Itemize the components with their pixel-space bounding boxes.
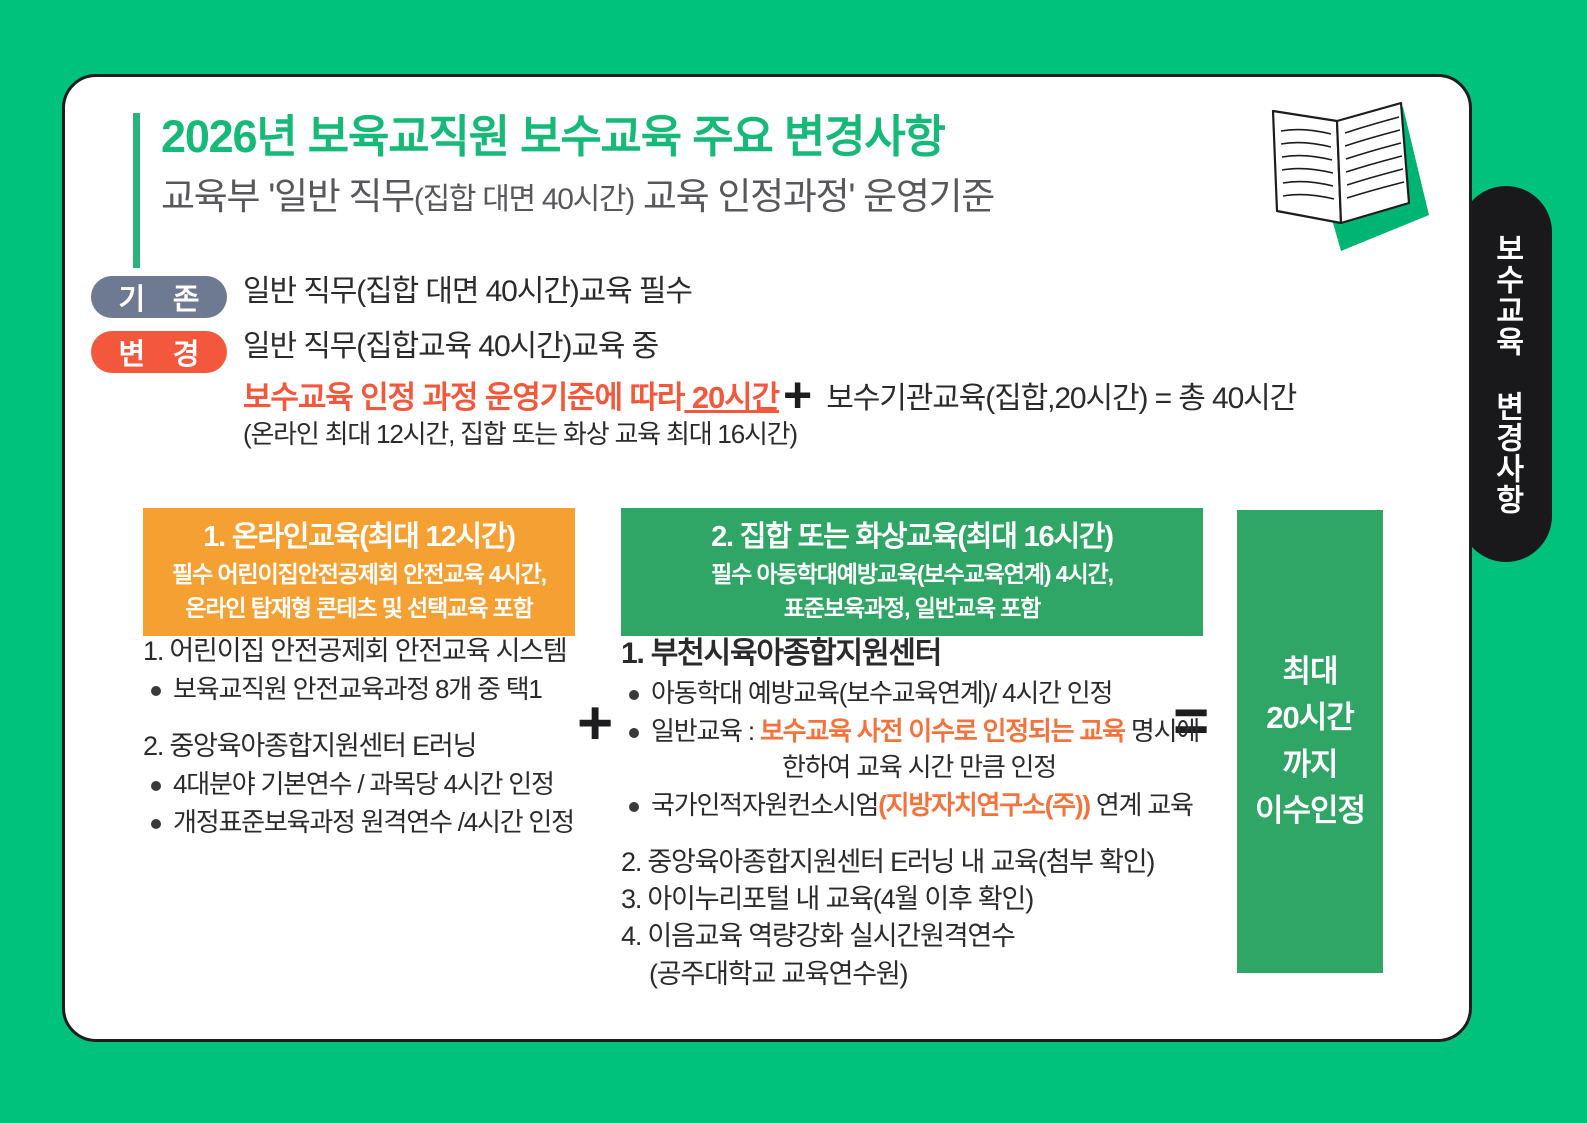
subtitle-post: 교육 인정과정' 운영기준 — [634, 176, 994, 217]
bullet-dot-icon — [151, 781, 161, 791]
section-online-title: 1. 온라인교육(최대 12시간) — [151, 518, 567, 556]
offline-group-2-head: 2. 중앙육아종합지원센터 E러닝 내 교육(첨부 확인) — [621, 844, 1211, 881]
list-item: 개정표준보육과정 원격연수 /4시간 인정 — [143, 805, 593, 841]
result-text: 최대 20시간 까지 이수인정 — [1255, 649, 1365, 835]
offline-group-1: 1. 부천시육아종합지원센터 아동학대 예방교육(보수교육연계)/ 4시간 인정… — [621, 633, 1211, 824]
header-accent-bar — [133, 113, 140, 268]
result-box: 최대 20시간 까지 이수인정 — [1237, 510, 1383, 973]
offline-group-4-sub: (공주대학교 교육연수원) — [621, 956, 1211, 993]
badge-changed: 변 경 — [91, 331, 227, 373]
offline-list: 1. 부천시육아종합지원센터 아동학대 예방교육(보수교육연계)/ 4시간 인정… — [621, 633, 1211, 993]
offline-group-1-head: 1. 부천시육아종합지원센터 — [621, 633, 1211, 674]
open-book-icon — [1253, 87, 1433, 257]
offline-item-2-pre: 일반교육 : — [651, 716, 760, 746]
row-existing-body: 일반 직무(집합 대면 40시간)교육 필수 — [243, 273, 1451, 311]
subtitle-paren: (집합 대면 40시간) — [414, 183, 634, 216]
main-card: 2026년 보육교직원 보수교육 주요 변경사항 교육부 '일반 직무(집합 대… — [62, 74, 1472, 1042]
offline-item-3-highlight: (지방자치연구소(주)) — [878, 790, 1090, 820]
online-group-2-head: 2. 중앙육아종합지원센터 E러닝 — [143, 728, 593, 765]
list-item: 일반교육 : 보수교육 사전 이수로 인정되는 교육 명시에한하여 교육 시간 … — [621, 714, 1211, 786]
side-tab: 보수교육 변경사항 — [1460, 186, 1552, 562]
side-tab-label: 보수교육 변경사항 — [1487, 233, 1525, 515]
row-changed: 변 경 일반 직무(집합교육 40시간)교육 중 보수교육 인정 과정 운영기준… — [91, 328, 1451, 451]
row-existing: 기 존 일반 직무(집합 대면 40시간)교육 필수 — [91, 273, 1451, 318]
result-line-4: 이수인정 — [1255, 788, 1365, 835]
list-item: 보육교직원 안전교육과정 8개 중 택1 — [143, 672, 593, 708]
bullet-dot-icon — [629, 802, 639, 812]
offline-item-1: 아동학대 예방교육(보수교육연계)/ 4시간 인정 — [651, 676, 1211, 712]
section-online-desc-1: 필수 어린이집안전공제회 안전교육 4시간, — [151, 559, 567, 590]
row-changed-highlight-pre: 보수교육 인정 과정 운영기준에 따라 — [243, 380, 684, 415]
bullet-dot-icon — [629, 690, 639, 700]
row-changed-hours: 20시간 — [684, 380, 779, 415]
offline-item-2: 일반교육 : 보수교육 사전 이수로 인정되는 교육 명시에한하여 교육 시간 … — [651, 714, 1211, 786]
result-line-1: 최대 — [1255, 649, 1365, 696]
section-online-desc-2: 온라인 탑재형 콘테츠 및 선택교육 포함 — [151, 593, 567, 624]
online-list: 1. 어린이집 안전공제회 안전교육 시스템 보육교직원 안전교육과정 8개 중… — [143, 633, 593, 841]
result-line-3: 까지 — [1255, 742, 1365, 789]
section-header-online: 1. 온라인교육(최대 12시간) 필수 어린이집안전공제회 안전교육 4시간,… — [143, 508, 575, 636]
result-line-2: 20시간 — [1255, 695, 1365, 742]
offline-group-2: 2. 중앙육아종합지원센터 E러닝 내 교육(첨부 확인) 3. 아이누리포털 … — [621, 844, 1211, 993]
badge-changed-char1: 변 — [119, 331, 146, 373]
section-offline-desc-1: 필수 아동학대예방교육(보수교육연계) 4시간, — [629, 559, 1195, 590]
list-item: 4대분야 기본연수 / 과목당 4시간 인정 — [143, 767, 593, 803]
offline-item-3-pre: 국가인적자원컨소시엄 — [651, 790, 878, 820]
bullet-dot-icon — [629, 728, 639, 738]
badge-existing-char1: 기 — [119, 276, 146, 318]
page-title: 2026년 보육교직원 보수교육 주요 변경사항 — [161, 107, 1323, 168]
row-changed-tail: 보수기관교육(집합,20시간) = 총 40시간 — [826, 373, 1296, 417]
offline-item-2-cont: 한하여 교육 시간 만큼 인정 — [651, 750, 1211, 786]
offline-group-4-head: 4. 이음교육 역량강화 실시간원격연수 — [621, 918, 1211, 955]
bullet-dot-icon — [151, 819, 161, 829]
offline-item-3-post: 연계 교육 — [1090, 790, 1193, 820]
badge-existing-char2: 존 — [173, 276, 200, 318]
offline-item-3: 국가인적자원컨소시엄(지방자치연구소(주)) 연계 교육 — [651, 788, 1211, 824]
plus-icon-equation: + — [783, 370, 812, 420]
row-changed-highlight: 보수교육 인정 과정 운영기준에 따라 20시간 — [243, 378, 779, 418]
header: 2026년 보육교직원 보수교육 주요 변경사항 교육부 '일반 직무(집합 대… — [133, 107, 1323, 222]
page-subtitle: 교육부 '일반 직무(집합 대면 40시간) 교육 인정과정' 운영기준 — [161, 172, 1323, 222]
online-group-2: 2. 중앙육아종합지원센터 E러닝 4대분야 기본연수 / 과목당 4시간 인정… — [143, 728, 593, 841]
row-changed-note: (온라인 최대 12시간, 집합 또는 화상 교육 최대 16시간) — [243, 418, 1451, 451]
section-offline-title: 2. 집합 또는 화상교육(최대 16시간) — [629, 518, 1195, 556]
offline-item-2-post: 명시에 — [1125, 716, 1199, 746]
online-group-1-head: 1. 어린이집 안전공제회 안전교육 시스템 — [143, 633, 593, 670]
row-changed-equation: 보수교육 인정 과정 운영기준에 따라 20시간 + 보수기관교육(집합,20시… — [243, 366, 1451, 418]
section-header-offline: 2. 집합 또는 화상교육(최대 16시간) 필수 아동학대예방교육(보수교육연… — [621, 508, 1203, 636]
comparison-rows: 기 존 일반 직무(집합 대면 40시간)교육 필수 변 경 일반 직무(집합교… — [91, 273, 1451, 451]
bullet-dot-icon — [151, 686, 161, 696]
online-group-1-item-1: 보육교직원 안전교육과정 8개 중 택1 — [173, 672, 593, 708]
list-item: 아동학대 예방교육(보수교육연계)/ 4시간 인정 — [621, 676, 1211, 712]
badge-existing: 기 존 — [91, 276, 227, 318]
subtitle-pre: 교육부 '일반 직무 — [161, 176, 414, 217]
list-item: 국가인적자원컨소시엄(지방자치연구소(주)) 연계 교육 — [621, 788, 1211, 824]
badge-changed-char2: 경 — [173, 331, 200, 373]
row-changed-line1: 일반 직무(집합교육 40시간)교육 중 — [243, 328, 1451, 366]
online-group-2-item-2: 개정표준보육과정 원격연수 /4시간 인정 — [173, 805, 593, 841]
section-offline-desc-2: 표준보육과정, 일반교육 포함 — [629, 593, 1195, 624]
row-changed-body: 일반 직무(집합교육 40시간)교육 중 보수교육 인정 과정 운영기준에 따라… — [243, 328, 1451, 451]
online-group-2-item-1: 4대분야 기본연수 / 과목당 4시간 인정 — [173, 767, 593, 803]
online-group-1: 1. 어린이집 안전공제회 안전교육 시스템 보육교직원 안전교육과정 8개 중… — [143, 633, 593, 708]
offline-item-2-highlight: 보수교육 사전 이수로 인정되는 교육 — [760, 716, 1125, 746]
offline-group-3-head: 3. 아이누리포털 내 교육(4월 이후 확인) — [621, 881, 1211, 918]
row-existing-text: 일반 직무(집합 대면 40시간)교육 필수 — [243, 273, 1451, 311]
